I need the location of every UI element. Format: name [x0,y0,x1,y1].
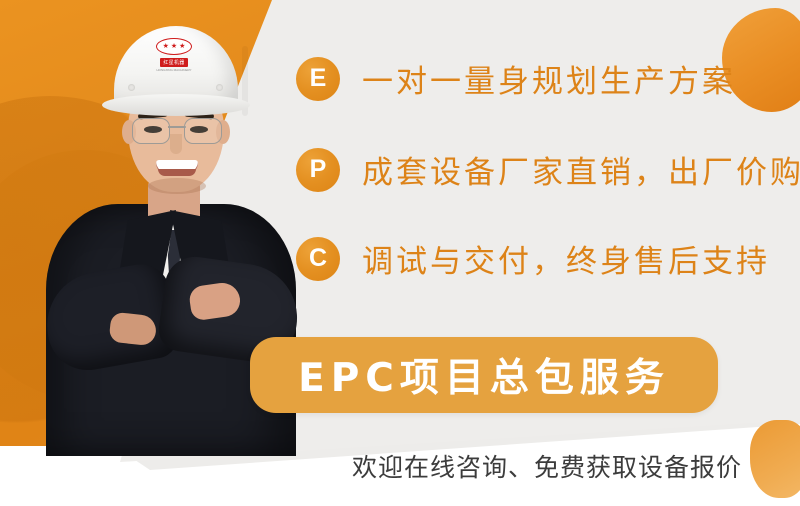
feature-row-1: E 一对一量身规划生产方案 [296,56,736,101]
badge-icon-e: E [296,57,340,101]
epc-service-label: EPC项目总包服务 [298,347,670,403]
feature-row-2: P 成套设备厂家直销，出厂价购机 [296,147,800,192]
feature-text-2: 成套设备厂家直销，出厂价购机 [362,147,800,192]
feature-row-3: C 调试与交付，终身售后支持 [296,236,770,281]
epc-service-pill[interactable]: EPC项目总包服务 [250,337,718,413]
badge-icon-p: P [296,148,340,192]
feature-text-3: 调试与交付，终身售后支持 [362,236,770,281]
badge-icon-c: C [296,237,340,281]
bottom-caption: 欢迎在线咨询、免费获取设备报价 [352,448,742,484]
feature-text-1: 一对一量身规划生产方案 [362,56,736,101]
feature-list: E 一对一量身规划生产方案 P 成套设备厂家直销，出厂价购机 C 调试与交付，终… [0,0,800,506]
banner-canvas: ★ ★ ★ 红星机器 HONGXING MACHINERY E 一对一量身规划生… [0,0,800,506]
